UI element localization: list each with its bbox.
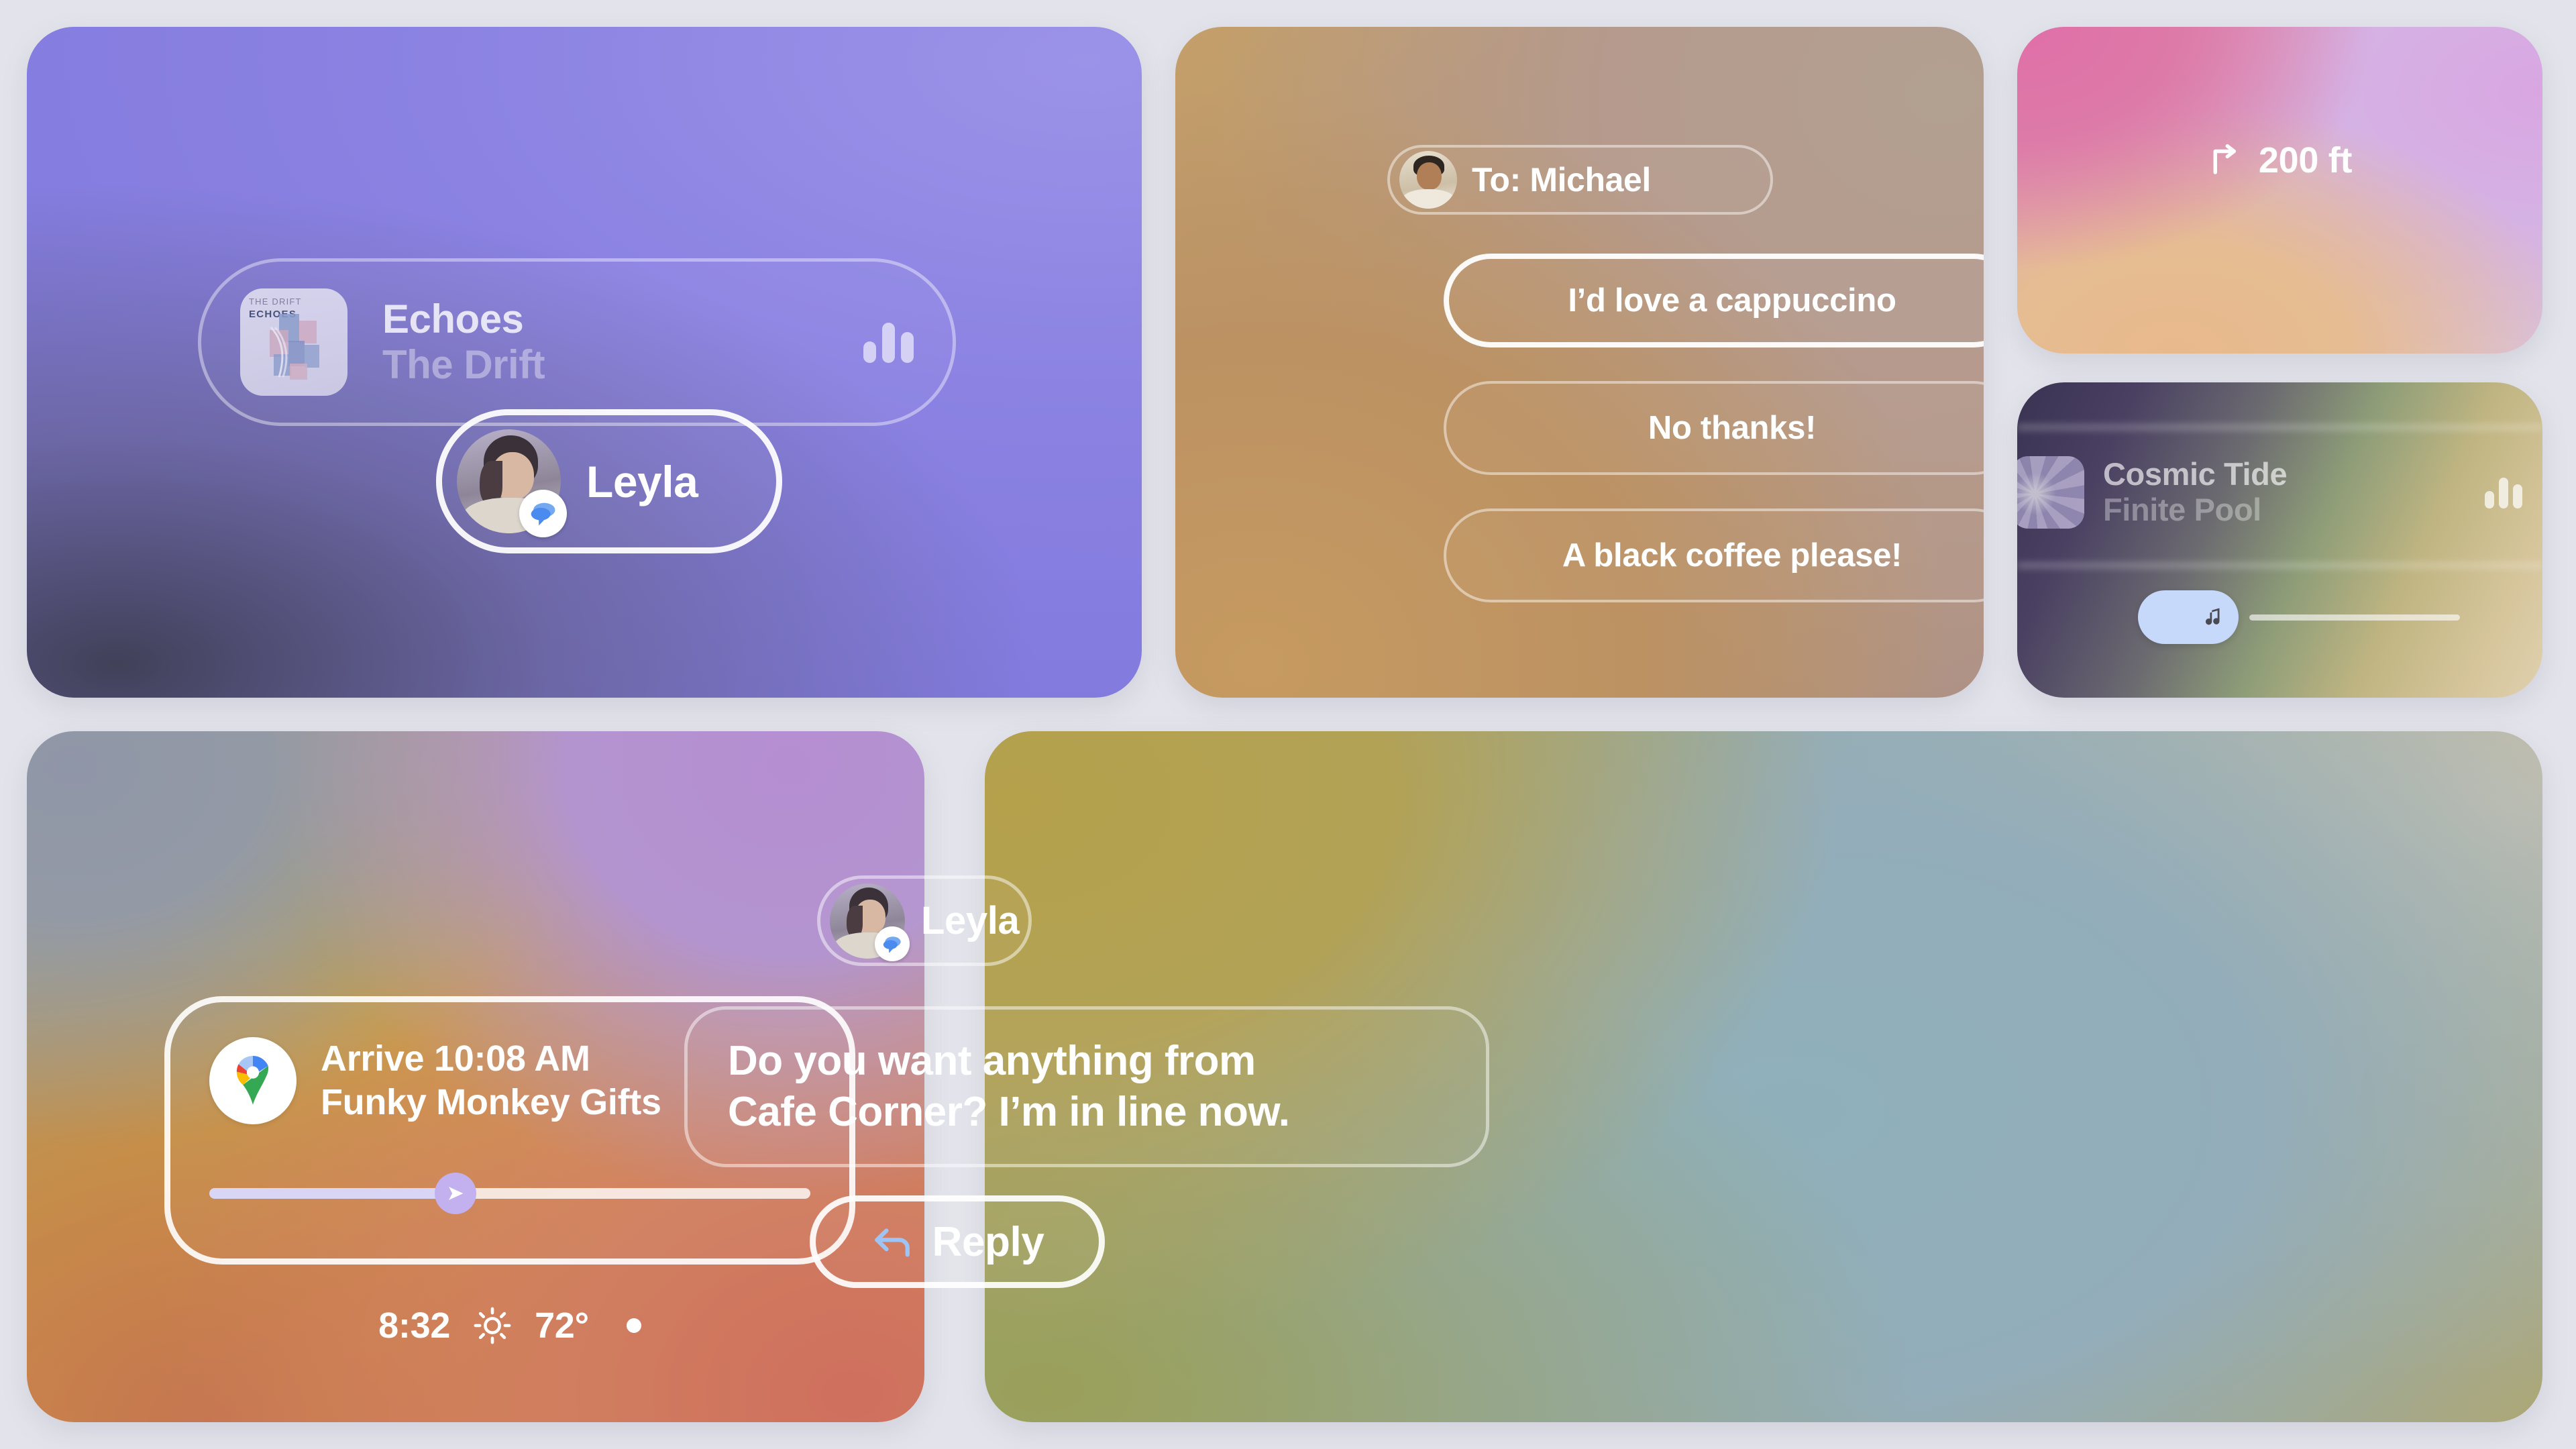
cosmic-track-row: Cosmic Tide Finite Pool	[2017, 456, 2542, 529]
scrubber[interactable]	[2138, 590, 2460, 644]
arrival-destination: Funky Monkey Gifts	[321, 1081, 661, 1124]
card-navigation-distance[interactable]: 200 ft	[2017, 27, 2542, 354]
route-progress-remaining	[455, 1188, 810, 1199]
track-info: Echoes The Drift	[382, 298, 545, 386]
route-progress-bar[interactable]	[209, 1173, 810, 1214]
messages-badge-icon	[519, 490, 567, 537]
notification-sender-name: Leyla	[586, 456, 698, 507]
message-line-1: Do you want anything from	[728, 1038, 1256, 1084]
distance-readout: 200 ft	[2017, 140, 2542, 181]
sun-icon	[473, 1306, 512, 1345]
sheen-mid	[2017, 562, 2542, 569]
track-title: Echoes	[382, 298, 545, 341]
equalizer-icon	[863, 321, 914, 363]
status-time: 8:32	[378, 1305, 450, 1346]
messages-badge-icon	[875, 926, 910, 961]
message-sender-name: Leyla	[921, 898, 1019, 943]
notification-pill-leyla[interactable]: Leyla	[436, 409, 782, 553]
google-maps-pin-icon	[209, 1037, 297, 1124]
reply-option-label: I’d love a cappuccino	[1568, 282, 1896, 319]
navigation-arrow-icon	[444, 1182, 467, 1205]
arrival-eta: Arrive 10:08 AM	[321, 1037, 661, 1081]
message-sender-pill[interactable]: Leyla	[817, 875, 1032, 966]
reply-arrow-icon	[871, 1223, 915, 1260]
recipient-label: To: Michael	[1472, 160, 1651, 199]
reply-button[interactable]: Reply	[810, 1195, 1105, 1288]
recipient-pill[interactable]: To: Michael	[1387, 145, 1773, 215]
status-row: 8:32 72°	[164, 1305, 855, 1346]
distance-label: 200 ft	[2259, 140, 2352, 181]
track-artist: Finite Pool	[2103, 492, 2287, 528]
track-artist: The Drift	[382, 343, 545, 386]
route-progress-fill	[209, 1188, 455, 1199]
music-note-icon	[2202, 603, 2226, 631]
equalizer-icon	[2485, 476, 2522, 508]
route-progress-thumb[interactable]	[435, 1173, 476, 1214]
message-bubble[interactable]: Do you want anything from Cafe Corner? I…	[684, 1006, 1489, 1167]
avatar-leyla	[457, 429, 561, 533]
scrubber-thumb[interactable]	[2138, 590, 2239, 644]
sheen-top	[2017, 424, 2542, 431]
status-dot-icon	[627, 1318, 641, 1333]
turn-right-icon	[2208, 142, 2244, 178]
arrival-text: Arrive 10:08 AM Funky Monkey Gifts	[321, 1037, 661, 1124]
album-art-echoes: THE DRIFT ECHOES	[240, 288, 347, 396]
card-now-playing-echoes[interactable]: THE DRIFT ECHOES Echoes The Drift	[27, 27, 1142, 698]
widget-canvas: THE DRIFT ECHOES Echoes The Drift	[0, 0, 2576, 1449]
reply-option-no-thanks[interactable]: No thanks!	[1444, 381, 1984, 475]
reply-option-cappuccino[interactable]: I’d love a cappuccino	[1444, 254, 1984, 347]
album-art-cosmic-tide	[2017, 456, 2084, 529]
status-temperature: 72°	[535, 1305, 589, 1346]
avatar-michael	[1399, 151, 1457, 209]
album-art-artwork	[240, 288, 347, 396]
now-playing-pill[interactable]: THE DRIFT ECHOES Echoes The Drift	[198, 258, 956, 426]
track-title: Cosmic Tide	[2103, 457, 2287, 492]
reply-option-label: No thanks!	[1648, 409, 1816, 447]
scrubber-track[interactable]	[2249, 614, 2460, 621]
cosmic-track-info: Cosmic Tide Finite Pool	[2103, 457, 2287, 527]
card-now-playing-cosmic-tide[interactable]: Cosmic Tide Finite Pool	[2017, 382, 2542, 698]
avatar-leyla	[830, 883, 905, 959]
message-line-2: Cafe Corner? I’m in line now.	[728, 1089, 1290, 1135]
reply-option-label: A black coffee please!	[1562, 537, 1902, 574]
message-text: Do you want anything from Cafe Corner? I…	[728, 1036, 1290, 1137]
reply-button-label: Reply	[932, 1218, 1044, 1266]
card-smart-replies[interactable]: To: Michael I’d love a cappuccino No tha…	[1175, 27, 1984, 698]
reply-option-black-coffee[interactable]: A black coffee please!	[1444, 508, 1984, 602]
